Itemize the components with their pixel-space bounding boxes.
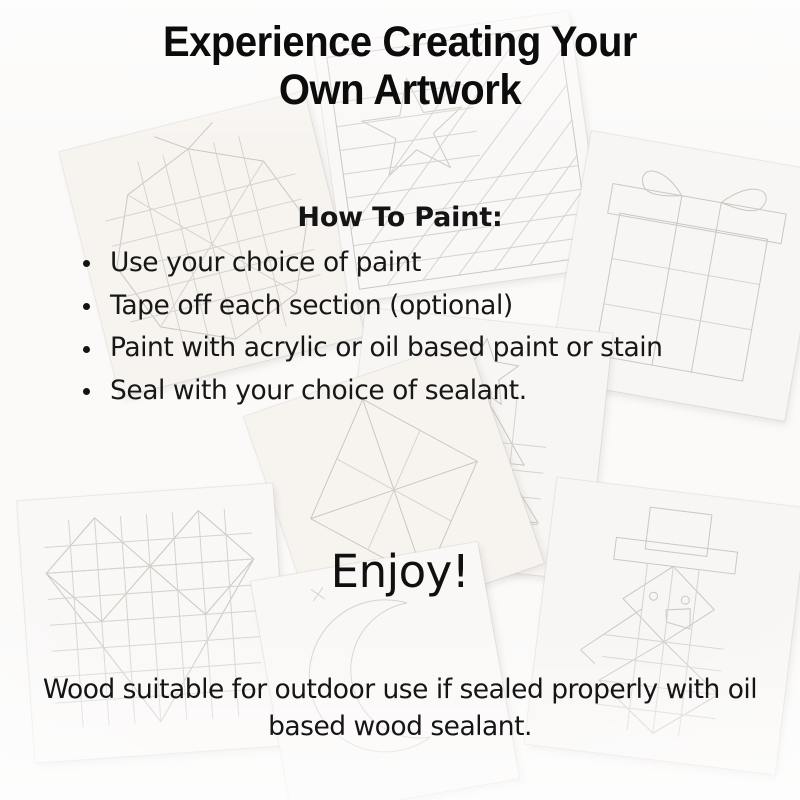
list-item-label: Seal with your choice of sealant. — [110, 375, 527, 406]
list-item: Seal with your choice of sealant. — [78, 372, 766, 410]
bullet-icon — [83, 388, 90, 395]
title-line-2: Own Artwork — [28, 66, 772, 114]
graphic-canvas: Experience Creating Your Own Artwork How… — [0, 0, 800, 800]
text-overlay: Experience Creating Your Own Artwork How… — [0, 0, 800, 800]
enjoy-callout: Enjoy! — [0, 549, 800, 594]
bullet-icon — [83, 346, 90, 353]
sealant-footnote: Wood suitable for outdoor use if sealed … — [40, 672, 760, 745]
paint-steps-list: Use your choice of paint Tape off each s… — [78, 244, 766, 415]
title-line-1: Experience Creating Your — [28, 18, 772, 66]
list-item-label: Use your choice of paint — [110, 247, 421, 278]
bullet-icon — [83, 303, 90, 310]
list-item: Tape off each section (optional) — [78, 287, 766, 325]
list-item-label: Tape off each section (optional) — [110, 290, 513, 321]
list-item: Use your choice of paint — [78, 244, 766, 282]
how-to-paint-heading: How To Paint: — [0, 202, 800, 233]
list-item-label: Paint with acrylic or oil based paint or… — [110, 332, 663, 363]
page-title: Experience Creating Your Own Artwork — [28, 18, 772, 114]
bullet-icon — [83, 260, 90, 267]
list-item: Paint with acrylic or oil based paint or… — [78, 329, 766, 367]
